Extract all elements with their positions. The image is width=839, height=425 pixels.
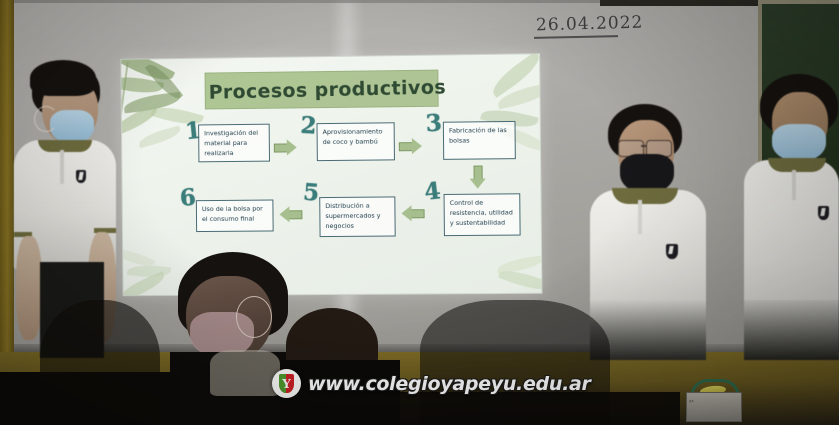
- shirt-lower-shadow: [744, 300, 839, 360]
- mask-strap: [34, 106, 58, 132]
- arrow-step5-to-step6: [277, 206, 302, 223]
- arrow-step3-to-step4: [469, 165, 486, 190]
- arrow-step2-to-step3: [399, 138, 424, 155]
- site-watermark: Y www.colegioyapeyu.edu.ar: [272, 369, 591, 398]
- step-number-2: 2: [300, 112, 318, 140]
- step-box-3: Fabricación de las bolsas: [443, 121, 516, 160]
- face-mask-blue: [772, 124, 826, 162]
- placket: [60, 150, 64, 184]
- step-box-5: Distribución a supermercados y negocios: [319, 196, 395, 237]
- slide-title: Procesos productivos: [208, 71, 448, 107]
- board-date: 26.04.2022: [536, 13, 644, 36]
- step-number-5: 5: [302, 179, 320, 207]
- arm-left: [16, 236, 42, 340]
- classroom-photo: 26.04.2022: [0, 0, 839, 425]
- collar: [768, 158, 826, 172]
- arrow-step4-to-step5: [399, 205, 424, 222]
- collar: [38, 140, 92, 152]
- hair-top: [30, 60, 96, 96]
- school-shield-logo-icon: Y: [272, 369, 301, 398]
- placket: [792, 170, 796, 200]
- desk-bag-label: ⸗⸗: [689, 398, 694, 405]
- step-number-6: 6: [179, 184, 197, 212]
- watermark-url: www.colegioyapeyu.edu.ar: [308, 373, 591, 395]
- shield-shape: Y: [279, 374, 294, 393]
- step-box-4: Control de resistencia, utilidad y suste…: [444, 193, 521, 236]
- step-number-4: 4: [423, 177, 442, 206]
- step-box-2: Aprovisionamiento de coco y bambú: [317, 122, 395, 161]
- desk-bag: [686, 392, 742, 422]
- shoulder-highlight: [210, 350, 280, 396]
- placket: [638, 200, 642, 234]
- school-crest: [76, 170, 86, 183]
- arrow-step1-to-step2: [274, 139, 299, 156]
- step-box-1: Investigación del material para realizar…: [198, 124, 270, 163]
- glasses-bridge: [641, 145, 647, 147]
- school-crest: [818, 206, 829, 220]
- foreground-head-left: [40, 300, 160, 425]
- mask-strap: [236, 296, 272, 338]
- collar: [612, 188, 678, 204]
- step-box-6: Uso de la bolsa por el consumo final: [196, 200, 274, 233]
- step-number-3: 3: [425, 109, 443, 137]
- logo-letter: Y: [279, 374, 294, 393]
- school-crest: [666, 244, 678, 259]
- foreground-shadow-right: [420, 300, 610, 425]
- projected-slide: Procesos productivos 1 Investigación del…: [120, 53, 542, 296]
